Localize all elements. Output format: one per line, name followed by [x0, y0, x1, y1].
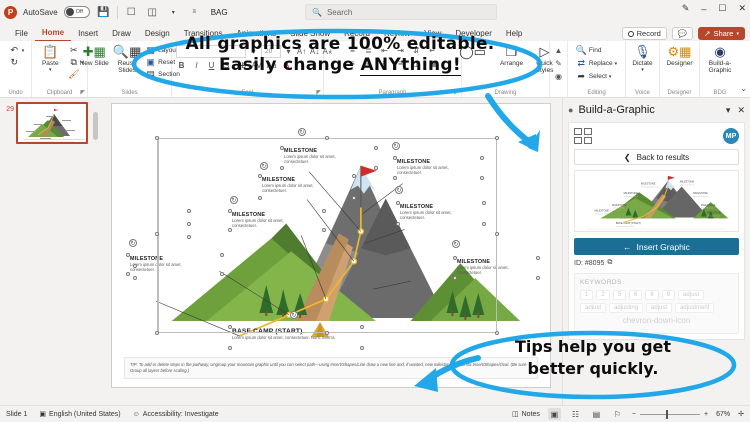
chevron-down-icon[interactable]: ▾ — [736, 31, 739, 37]
keywords-title: KEYWORDS — [580, 279, 733, 286]
svg-text:BASE CAMP (START): BASE CAMP (START) — [616, 222, 641, 225]
graphic-id-label: ID: #8095 — [574, 260, 604, 267]
zoom-in-button[interactable]: + — [704, 411, 708, 418]
keyword-tag[interactable]: 1 — [580, 290, 593, 300]
chevron-down-icon[interactable]: ▾ — [49, 68, 52, 74]
align-center-icon[interactable]: ≡ — [363, 58, 374, 69]
graphic-preview-image: MILESTONEMILESTONE MILESTONEMILESTONE MI… — [575, 171, 738, 231]
designer-label: Designer — [666, 60, 692, 67]
comments-button[interactable]: 💬 — [672, 27, 693, 40]
convert-smartart-icon[interactable]: ▦ — [427, 58, 438, 69]
keyword-tag[interactable]: adjustment — [675, 303, 714, 313]
slide-thumbnail-pane: 29 — [0, 98, 100, 405]
keyword-tag[interactable]: 2 — [596, 290, 609, 300]
replace-icon: ⇄ — [576, 58, 587, 69]
group-label-undo: Undo — [8, 90, 22, 97]
layout-icon: ▦ — [145, 45, 156, 56]
group-label-editing: Editing — [587, 90, 605, 97]
status-bar-right: ◫ Notes ▣ ☷ ▤ ⚐ − + 67% ✢ — [512, 408, 744, 420]
rotate-handle-icon[interactable]: ↻ — [230, 196, 238, 204]
increase-indent-icon[interactable]: ⇥ — [395, 45, 406, 56]
zoom-track[interactable] — [640, 414, 700, 415]
ribbon-group-undo: ↶▾ ↻ Undo — [0, 41, 32, 97]
paragraph-dialog-launcher[interactable]: ◤ — [454, 89, 459, 96]
keyword-tag[interactable]: 8 — [645, 290, 658, 300]
powerpoint-logo-icon: P — [4, 6, 17, 19]
search-icon: 🔍 — [576, 45, 587, 56]
language-label: English (United States) — [49, 411, 121, 418]
rotate-handle-icon[interactable]: ↻ — [260, 162, 268, 170]
search-placeholder: Search — [327, 8, 352, 17]
task-pane-controls: ▾ ✕ — [726, 105, 745, 116]
slide-canvas[interactable]: MILESTONE Lorem ipsum dolor sit amet, co… — [111, 103, 551, 388]
undo-icon: ↶ — [9, 45, 20, 56]
reuse-slides-icon: 🔍▦ — [113, 45, 141, 59]
notes-button[interactable]: ◫ Notes — [512, 410, 540, 418]
copy-icon: ⧉ — [68, 57, 79, 68]
group-label-slides: Slides — [121, 90, 137, 97]
scissors-icon: ✂ — [68, 45, 79, 56]
search-input[interactable]: 🔍 Search — [305, 4, 497, 20]
keyword-tag[interactable]: 5 — [613, 290, 626, 300]
share-label: Share — [713, 29, 733, 38]
toggle-knob — [66, 8, 74, 16]
grow-font-icon[interactable]: A↑ — [296, 46, 307, 57]
maximize-icon[interactable]: ☐ — [718, 3, 726, 14]
slide-thumbnail[interactable] — [16, 102, 88, 144]
back-to-results-label: Back to results — [637, 153, 689, 162]
tab-slide-show[interactable]: Slide Show — [283, 28, 337, 41]
font-name-select[interactable] — [176, 45, 246, 58]
shapes-gallery[interactable]: ◯▭ — [452, 45, 494, 59]
file-name[interactable]: BAG — [211, 8, 228, 17]
dictate-button[interactable]: 🎙 Dictate ▾ — [628, 45, 658, 74]
zoom-thumb[interactable] — [666, 410, 668, 419]
task-pane-toolbar: MP — [574, 128, 739, 144]
chevron-down-icon[interactable]: ▾ — [641, 68, 644, 74]
search-icon: 🔍 — [312, 8, 322, 17]
chevron-down-icon[interactable]: ▾ — [726, 105, 731, 116]
save-icon[interactable]: 💾 — [96, 5, 111, 20]
group-label-voice: Voice — [635, 90, 650, 97]
keyword-tag[interactable]: 6 — [629, 290, 642, 300]
tab-file[interactable]: File — [8, 28, 35, 41]
justify-icon[interactable]: ≡ — [395, 58, 406, 69]
zoom-slider[interactable]: − + — [632, 411, 708, 418]
chevron-down-icon[interactable]: ▾ — [248, 46, 259, 57]
group-label-bdg: BDG — [713, 90, 726, 97]
ribbon-group-voice: 🎙 Dictate ▾ Voice — [626, 41, 660, 97]
underline-icon[interactable]: U — [206, 60, 217, 71]
rotate-handle-icon[interactable]: ↻ — [452, 240, 460, 248]
comment-icon: 💬 — [678, 29, 687, 38]
italic-icon[interactable]: I — [191, 60, 202, 71]
slide-indicator[interactable]: Slide 1 — [6, 411, 27, 418]
back-to-results-button[interactable]: ❮ Back to results — [574, 149, 739, 165]
find-button[interactable]: 🔍Find — [576, 45, 617, 56]
align-right-icon[interactable]: ≡ — [379, 58, 390, 69]
shape-fill-icon[interactable]: ▲ — [553, 45, 564, 56]
graphic-preview[interactable]: MILESTONEMILESTONE MILESTONEMILESTONE MI… — [574, 170, 739, 232]
ribbon-right-actions: Record 💬 ↗ Share ▾ — [622, 27, 745, 40]
font-size-select[interactable]: 20 — [261, 45, 281, 58]
new-slide-button[interactable]: ✚▦ New Slide — [79, 45, 109, 67]
shape-effects-icon[interactable]: ◉ — [553, 71, 564, 82]
copy-icon[interactable]: ⧉ — [607, 259, 612, 267]
language-icon: ▣ — [39, 410, 46, 418]
record-dot-icon — [628, 31, 634, 37]
insert-graphic-label: Insert Graphic — [637, 242, 690, 252]
more-qat-icon[interactable]: ≡ — [187, 5, 202, 20]
change-case-icon[interactable]: Aa — [266, 60, 277, 71]
build-a-graphic-icon: ◉ — [714, 45, 725, 59]
character-spacing-icon[interactable]: AV — [251, 60, 262, 71]
tab-review[interactable]: Review — [377, 28, 417, 41]
share-icon: ↗ — [704, 29, 710, 38]
arrange-button[interactable]: ❐ Arrange — [497, 45, 527, 67]
designer-icon: ⚙▦ — [668, 45, 692, 59]
reuse-slides-label: Reuse Slides — [112, 60, 142, 74]
microphone-icon: 🎙 — [634, 45, 651, 59]
task-pane-drag-handle[interactable]: ● — [568, 105, 573, 115]
svg-text:Lorem ipsum dolor: Lorem ipsum dolor — [701, 208, 714, 210]
thumbnail-number: 29 — [4, 102, 14, 113]
group-label-clipboard: Clipboard — [47, 90, 73, 97]
new-slide-label: New Slide — [80, 60, 109, 67]
group-label-drawing: Drawing — [494, 90, 516, 97]
rotate-handle-icon[interactable]: ↻ — [392, 142, 400, 150]
task-pane-header: ● Build-a-Graphic ▾ ✕ — [568, 102, 745, 118]
tab-animations[interactable]: Animations — [230, 28, 284, 41]
present-icon[interactable]: ☐ — [124, 5, 139, 20]
undo-button[interactable]: ↶▾ — [9, 45, 25, 56]
tab-help[interactable]: Help — [499, 28, 529, 41]
notes-icon: ◫ — [512, 410, 519, 418]
zoom-level-label[interactable]: 67% — [716, 411, 730, 418]
text-shadow-icon[interactable]: S — [221, 60, 232, 71]
replace-label: Replace — [589, 60, 613, 67]
close-icon[interactable]: ✕ — [738, 3, 746, 14]
ribbon-group-bdg: ◉ Build-a-Graphic BDG — [700, 41, 740, 97]
expand-keywords-icon[interactable]: chevron-down-icon — [580, 316, 733, 325]
record-button[interactable]: Record — [622, 27, 667, 40]
shape-outline-icon[interactable]: ✎ — [553, 58, 564, 69]
font-size-value: 20 — [265, 48, 272, 55]
format-painter-icon: 🖌 — [68, 69, 79, 80]
language-indicator[interactable]: ▣ English (United States) — [39, 410, 120, 418]
base-camp-desc: Lorem ipsum dolor sit amet, consectetuer… — [232, 335, 337, 340]
bold-icon[interactable]: B — [176, 60, 187, 71]
ribbon-tab-bar: File Home Insert Draw Design Transitions… — [0, 24, 750, 41]
autosave-toggle[interactable]: Off — [64, 6, 90, 18]
text-direction-icon[interactable]: ↵ — [427, 45, 438, 56]
tip-text: TIP: To add or delete steps in the pathw… — [124, 357, 538, 379]
tab-home[interactable]: Home — [35, 27, 71, 41]
reuse-slides-button[interactable]: 🔍▦ Reuse Slides — [112, 45, 142, 74]
select-label: Select — [589, 73, 607, 80]
rotate-handle-icon[interactable]: ↻ — [129, 239, 137, 247]
selection-outline — [157, 138, 497, 333]
ribbon-group-shape-format: ▲ ✎ ◉ — [550, 41, 568, 97]
task-pane-card: MP ❮ Back to results — [568, 122, 745, 340]
svg-text:MILESTONE: MILESTONE — [707, 212, 722, 215]
svg-text:Lorem ipsum dolor: Lorem ipsum dolor — [612, 208, 625, 210]
collapse-ribbon-button[interactable]: ⌄ — [740, 84, 747, 93]
font-dialog-launcher[interactable]: ◤ — [316, 89, 321, 96]
svg-text:MILESTONE: MILESTONE — [595, 210, 610, 213]
ribbon: ↶▾ ↻ Undo 📋 Paste ▾ ✂ ⧉▾ 🖌 Clipboard ◤ ✚… — [0, 41, 750, 98]
ribbon-group-paragraph: ≡ ≣ ⇤ ⇥ ⇵ ↵ ≡ ≡ ≡ ≡ ◫ ▦ Paragraph ◤ — [324, 41, 462, 97]
ribbon-group-font: ▾ 20 ▾ A↑ A↓ A⨰ B I U S ab AV Aa A Font … — [172, 41, 324, 97]
clipboard-dialog-launcher[interactable]: ◤ — [80, 89, 85, 96]
redo-button[interactable]: ↻ — [9, 57, 20, 68]
paste-button[interactable]: 📋 Paste ▾ — [35, 45, 65, 74]
select-icon: ➦ — [576, 71, 587, 82]
font-color-icon[interactable]: A — [281, 60, 292, 71]
quick-styles-icon: ▷ — [540, 45, 550, 59]
zoom-out-button[interactable]: − — [632, 411, 636, 418]
redo-icon: ↻ — [9, 57, 20, 68]
customize-qat-icon[interactable]: ▾ — [166, 5, 181, 20]
reset-icon: ▣ — [145, 57, 156, 68]
shapes-icon: ◯▭ — [459, 45, 486, 59]
svg-text:MILESTONE: MILESTONE — [701, 204, 716, 207]
window-controls: ✎ – ☐ ✕ — [682, 3, 746, 14]
svg-text:MILESTONE: MILESTONE — [612, 204, 627, 207]
new-slide-icon: ✚▦ — [83, 45, 106, 59]
thumbnail-list-item[interactable]: 29 — [4, 102, 98, 144]
ribbon-group-drawing: ◯▭ ❐ Arrange ▷ Quick Styles Drawing — [462, 41, 550, 97]
graphic-id-row: ID: #8095 ⧉ — [574, 259, 739, 267]
tab-insert[interactable]: Insert — [71, 28, 105, 41]
touch-mode-icon[interactable]: ◫ — [145, 5, 160, 20]
numbering-icon[interactable]: ≣ — [363, 45, 374, 56]
tab-transitions[interactable]: Transitions — [177, 28, 230, 41]
keywords-list: 1 2 5 6 8 9 adjust adjust adjusting adju… — [580, 290, 733, 313]
keyword-tag[interactable]: adjust — [646, 303, 672, 313]
pen-icon[interactable]: ✎ — [682, 3, 690, 14]
notes-label: Notes — [522, 411, 540, 418]
align-left-icon[interactable]: ≡ — [347, 58, 358, 69]
autosave-state-label: Off — [76, 9, 83, 15]
group-label-designer: Designer — [667, 90, 691, 97]
rotate-handle-icon[interactable]: ↻ — [290, 311, 298, 319]
svg-text:Lorem ipsum dolor: Lorem ipsum dolor — [595, 214, 608, 216]
accessibility-icon: ☺ — [133, 411, 140, 418]
insert-graphic-button[interactable]: ← Insert Graphic — [574, 238, 739, 255]
close-icon[interactable]: ✕ — [737, 105, 745, 116]
columns-icon[interactable]: ◫ — [411, 58, 422, 69]
strikethrough-icon[interactable]: ab — [236, 60, 247, 71]
task-pane-title: Build-a-Graphic — [578, 104, 654, 116]
keywords-card: KEYWORDS 1 2 5 6 8 9 adjust adjust adjus… — [574, 273, 739, 334]
select-button[interactable]: ➦Select▾ — [576, 71, 617, 82]
tab-design[interactable]: Design — [138, 28, 177, 41]
chevron-down-icon[interactable]: ▾ — [283, 46, 294, 57]
decrease-indent-icon[interactable]: ⇤ — [379, 45, 390, 56]
accessibility-indicator[interactable]: ☺ Accessibility: Investigate — [133, 411, 219, 418]
rotate-handle-icon[interactable]: ↻ — [298, 128, 306, 136]
slide-show-button[interactable]: ⚐ — [611, 408, 624, 420]
keyword-tag[interactable]: adjusting — [609, 303, 643, 313]
slide-editing-area[interactable]: MILESTONE Lorem ipsum dolor sit amet, co… — [100, 98, 562, 405]
svg-text:MILESTONE: MILESTONE — [641, 183, 656, 186]
paste-label: Paste — [42, 60, 59, 67]
dictate-label: Dictate — [632, 60, 652, 67]
title-bar: P AutoSave Off 💾 ☐ ◫ ▾ ≡ BAG 🔍 Search ✎ … — [0, 0, 750, 24]
build-a-graphic-label: Build-a-Graphic — [702, 60, 738, 74]
bullets-icon[interactable]: ≡ — [347, 45, 358, 56]
svg-text:MILESTONE: MILESTONE — [624, 192, 639, 195]
keyword-tag[interactable]: 9 — [662, 290, 675, 300]
ribbon-group-editing: 🔍Find ⇄Replace▾ ➦Select▾ Editing — [568, 41, 626, 97]
normal-view-button[interactable]: ▣ — [548, 408, 561, 420]
slide-sorter-button[interactable]: ☷ — [569, 408, 582, 420]
tab-view[interactable]: View — [417, 28, 448, 41]
group-label-paragraph: Paragraph — [378, 90, 406, 97]
grid-icon[interactable] — [574, 128, 592, 144]
keyword-tag[interactable]: adjust — [580, 303, 606, 313]
record-label: Record — [637, 29, 661, 38]
svg-text:Lorem ipsum dolor: Lorem ipsum dolor — [707, 215, 720, 217]
rotate-handle-icon[interactable]: ↻ — [395, 186, 403, 194]
group-label-font: Font — [241, 90, 253, 97]
ribbon-group-designer: ⚙▦ Designer Designer — [660, 41, 700, 97]
arrange-label: Arrange — [500, 60, 523, 67]
minimize-icon[interactable]: – — [701, 4, 706, 14]
workspace: 29 — [0, 98, 750, 405]
share-button[interactable]: ↗ Share ▾ — [698, 27, 745, 40]
autosave-label: AutoSave — [23, 8, 58, 17]
avatar[interactable]: MP — [723, 128, 739, 144]
reading-view-button[interactable]: ▤ — [590, 408, 603, 420]
chevron-left-icon: ❮ — [624, 153, 631, 162]
shrink-font-icon[interactable]: A↓ — [309, 46, 320, 57]
tab-draw[interactable]: Draw — [105, 28, 138, 41]
arrange-icon: ❐ — [506, 45, 518, 59]
build-a-graphic-button[interactable]: ◉ Build-a-Graphic — [702, 45, 738, 74]
find-label: Find — [589, 47, 602, 54]
designer-button[interactable]: ⚙▦ Designer — [662, 45, 698, 67]
replace-button[interactable]: ⇄Replace▾ — [576, 58, 617, 69]
section-icon: ▤ — [145, 69, 156, 80]
fit-to-window-icon[interactable]: ✢ — [738, 410, 744, 418]
keyword-tag[interactable]: adjust — [678, 290, 704, 300]
thumbnail-scrollbar[interactable] — [93, 102, 98, 401]
line-spacing-icon[interactable]: ⇵ — [411, 45, 422, 56]
paste-icon: 📋 — [42, 45, 58, 59]
status-bar: Slide 1 ▣ English (United States) ☺ Acce… — [0, 405, 750, 422]
ribbon-group-slides: ✚▦ New Slide 🔍▦ Reuse Slides ▦Layout ▣Re… — [88, 41, 172, 97]
build-a-graphic-task-pane: ● Build-a-Graphic ▾ ✕ MP ❮ Back to resul… — [562, 98, 750, 405]
svg-text:MILESTONE: MILESTONE — [680, 181, 695, 184]
accessibility-label: Accessibility: Investigate — [143, 411, 219, 418]
thumbnail-preview-graphic — [18, 104, 88, 144]
arrow-left-icon: ← — [623, 242, 632, 252]
svg-text:MILESTONE: MILESTONE — [693, 192, 708, 195]
tab-developer[interactable]: Developer — [448, 28, 498, 41]
tab-record[interactable]: Record — [337, 28, 377, 41]
divider — [117, 6, 118, 19]
